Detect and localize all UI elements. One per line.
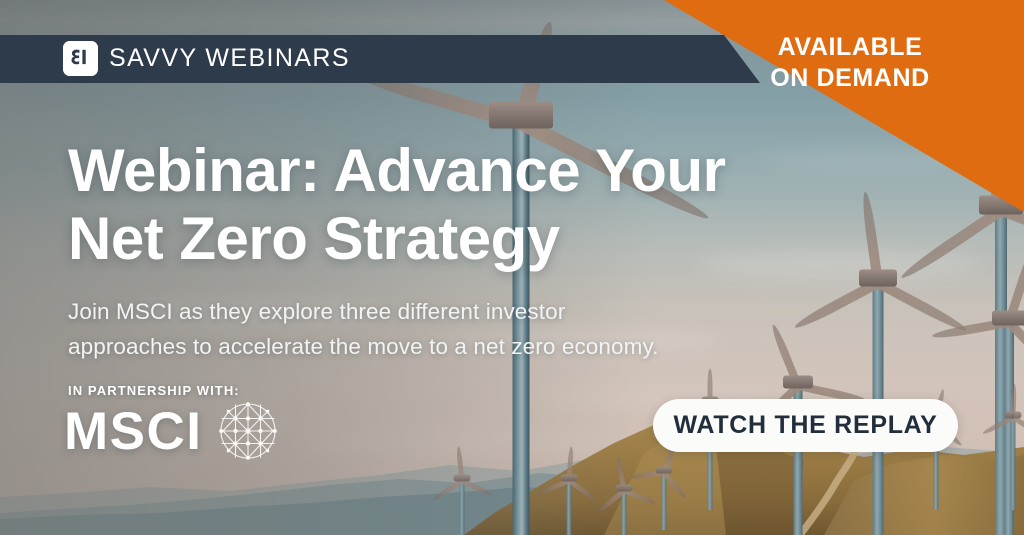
partnership-label: IN PARTNERSHIP WITH: — [68, 383, 240, 398]
msci-wordmark: MSCI — [64, 405, 203, 458]
msci-globe-icon — [217, 400, 279, 462]
msci-logo: MSCI — [64, 400, 279, 462]
page-subtitle: Join MSCI as they explore three differen… — [68, 295, 908, 365]
headline-line-2: Net Zero Strategy — [68, 205, 858, 273]
content-layer: Webinar: Advance Your Net Zero Strategy … — [0, 0, 1024, 535]
subhead-line-1: Join MSCI as they explore three differen… — [68, 295, 908, 330]
subhead-line-2: approaches to accelerate the move to a n… — [68, 330, 908, 365]
webinar-promo-banner: AVAILABLE ON DEMAND SAVVY WEBINARS Webin… — [0, 0, 1024, 535]
watch-replay-button[interactable]: WATCH THE REPLAY — [653, 399, 958, 452]
page-title: Webinar: Advance Your Net Zero Strategy — [68, 137, 858, 273]
headline-line-1: Webinar: Advance Your — [68, 137, 858, 205]
